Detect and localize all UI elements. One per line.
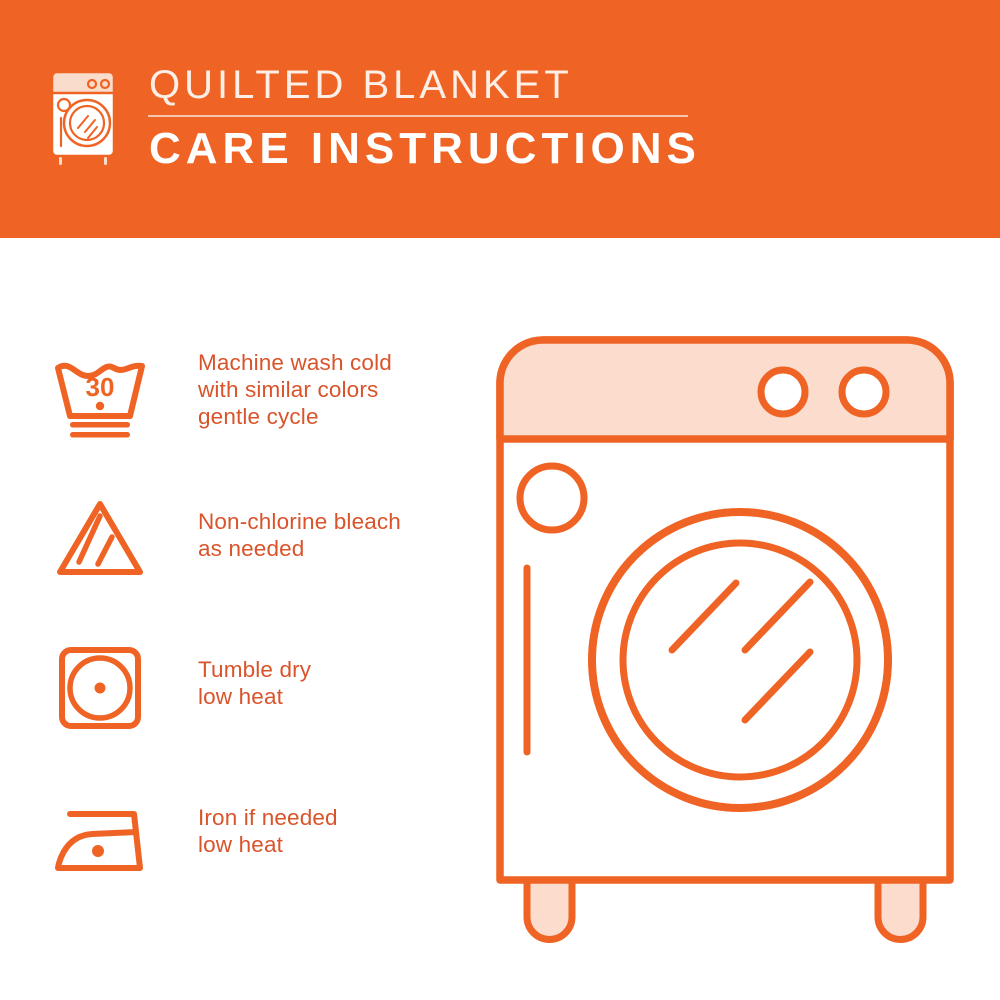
list-item-label: Non-chlorine bleach as needed	[198, 488, 401, 562]
list-item-label: Machine wash cold with similar colors ge…	[198, 346, 392, 430]
knob-right[interactable]	[842, 370, 886, 414]
front-load-washing-machine-illustration	[480, 320, 970, 950]
page-title-secondary: CARE INSTRUCTIONS	[146, 123, 701, 175]
door-outer-ring[interactable]	[592, 512, 888, 808]
list-item: Iron if needed low heat	[48, 788, 468, 892]
care-instruction-list: 30 Machine wash cold with similar colors…	[0, 238, 470, 1000]
washing-machine-graphic	[480, 320, 970, 950]
wash-temperature-label: 30	[86, 372, 115, 402]
list-item: 30 Machine wash cold with similar colors…	[48, 346, 468, 450]
header-banner: QUILTED BLANKET CARE INSTRUCTIONS	[0, 0, 1000, 238]
list-item-label: Iron if needed low heat	[198, 788, 338, 858]
knob-left[interactable]	[761, 370, 805, 414]
iron-low-heat-icon	[48, 788, 152, 892]
non-chlorine-bleach-triangle-icon	[48, 488, 152, 592]
list-item-label: Tumble dry low heat	[198, 636, 311, 710]
washing-machine-icon	[44, 68, 122, 172]
list-item: Non-chlorine bleach as needed	[48, 488, 468, 592]
header-title-group: QUILTED BLANKET CARE INSTRUCTIONS	[146, 62, 701, 175]
wash-basin-30-gentle-icon: 30	[48, 346, 152, 450]
page-title-primary: QUILTED BLANKET	[146, 62, 701, 108]
title-divider	[148, 115, 688, 117]
list-item: Tumble dry low heat	[48, 636, 468, 740]
header-content: QUILTED BLANKET CARE INSTRUCTIONS	[44, 62, 701, 175]
tumble-dry-low-heat-icon	[48, 636, 152, 740]
